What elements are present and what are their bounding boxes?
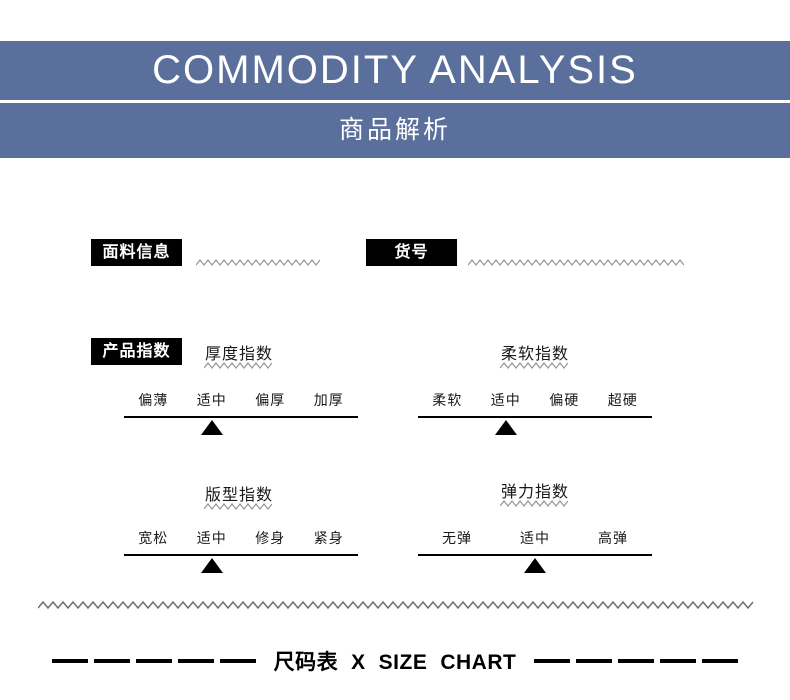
- scale-option-elasticity-2[interactable]: 高弹: [574, 528, 652, 548]
- marker-triangle-elasticity: [524, 558, 546, 573]
- size-chart-title: 尺码表XSIZECHART: [274, 646, 517, 676]
- scale-elasticity-marker: [418, 556, 652, 574]
- scale-option-softness-0[interactable]: 柔软: [418, 390, 477, 410]
- scale-thickness[interactable]: 偏薄 适中 偏厚 加厚: [124, 390, 358, 436]
- scale-option-softness-1[interactable]: 适中: [477, 390, 536, 410]
- zigzag-thickness-title: [204, 361, 272, 370]
- marker-triangle-softness: [495, 420, 517, 435]
- scale-option-fit-2[interactable]: 修身: [241, 528, 300, 548]
- dash-segment: [576, 659, 612, 663]
- scale-fit[interactable]: 宽松 适中 修身 紧身: [124, 528, 358, 574]
- size-chart-title-en-2: CHART: [440, 651, 516, 674]
- size-chart-title-row: 尺码表XSIZECHART: [0, 645, 790, 677]
- scale-option-softness-3[interactable]: 超硬: [594, 390, 653, 410]
- scale-softness-marker: [418, 418, 652, 436]
- scale-softness[interactable]: 柔软 适中 偏硬 超硬: [418, 390, 652, 436]
- dash-segment: [702, 659, 738, 663]
- dash-segment: [136, 659, 172, 663]
- scale-option-fit-0[interactable]: 宽松: [124, 528, 183, 548]
- scale-option-thickness-0[interactable]: 偏薄: [124, 390, 183, 410]
- zigzag-softness-title: [500, 361, 568, 370]
- size-chart-title-cn: 尺码表: [274, 651, 339, 674]
- scale-elasticity[interactable]: 无弹 适中 高弹: [418, 528, 652, 574]
- tag-product-index: 产品指数: [91, 338, 182, 365]
- dash-segment: [618, 659, 654, 663]
- scale-option-elasticity-0[interactable]: 无弹: [418, 528, 496, 548]
- scale-option-elasticity-1[interactable]: 适中: [496, 528, 574, 548]
- dash-segment: [52, 659, 88, 663]
- scale-option-fit-1[interactable]: 适中: [183, 528, 242, 548]
- zigzag-fit-title: [204, 502, 272, 511]
- scale-option-thickness-2[interactable]: 偏厚: [241, 390, 300, 410]
- scale-softness-labels: 柔软 适中 偏硬 超硬: [418, 390, 652, 410]
- zigzag-section-divider: [38, 598, 754, 616]
- size-chart-title-mark: X: [351, 651, 366, 674]
- scale-thickness-marker: [124, 418, 358, 436]
- marker-triangle-thickness: [201, 420, 223, 435]
- scale-option-thickness-3[interactable]: 加厚: [300, 390, 359, 410]
- tag-item-number: 货号: [366, 239, 457, 266]
- dashed-rule-left: [52, 659, 256, 663]
- dash-segment: [178, 659, 214, 663]
- dashed-rule-right: [534, 659, 738, 663]
- dash-segment: [660, 659, 696, 663]
- zigzag-item-number: [468, 258, 684, 267]
- zigzag-fabric-info: [196, 258, 320, 267]
- tag-fabric-info: 面料信息: [91, 239, 182, 266]
- dash-segment: [534, 659, 570, 663]
- scale-option-softness-2[interactable]: 偏硬: [535, 390, 594, 410]
- dash-segment: [94, 659, 130, 663]
- size-chart-title-en-1: SIZE: [379, 651, 428, 674]
- page-header-banner: COMMODITY ANALYSIS 商品解析: [0, 41, 790, 158]
- banner-title-english: COMMODITY ANALYSIS: [0, 41, 790, 100]
- dash-segment: [220, 659, 256, 663]
- marker-triangle-fit: [201, 558, 223, 573]
- zigzag-elasticity-title: [500, 499, 568, 508]
- scale-elasticity-labels: 无弹 适中 高弹: [418, 528, 652, 548]
- scale-option-thickness-1[interactable]: 适中: [183, 390, 242, 410]
- scale-option-fit-3[interactable]: 紧身: [300, 528, 359, 548]
- scale-fit-labels: 宽松 适中 修身 紧身: [124, 528, 358, 548]
- scale-fit-marker: [124, 556, 358, 574]
- banner-title-chinese: 商品解析: [0, 103, 790, 158]
- scale-thickness-labels: 偏薄 适中 偏厚 加厚: [124, 390, 358, 410]
